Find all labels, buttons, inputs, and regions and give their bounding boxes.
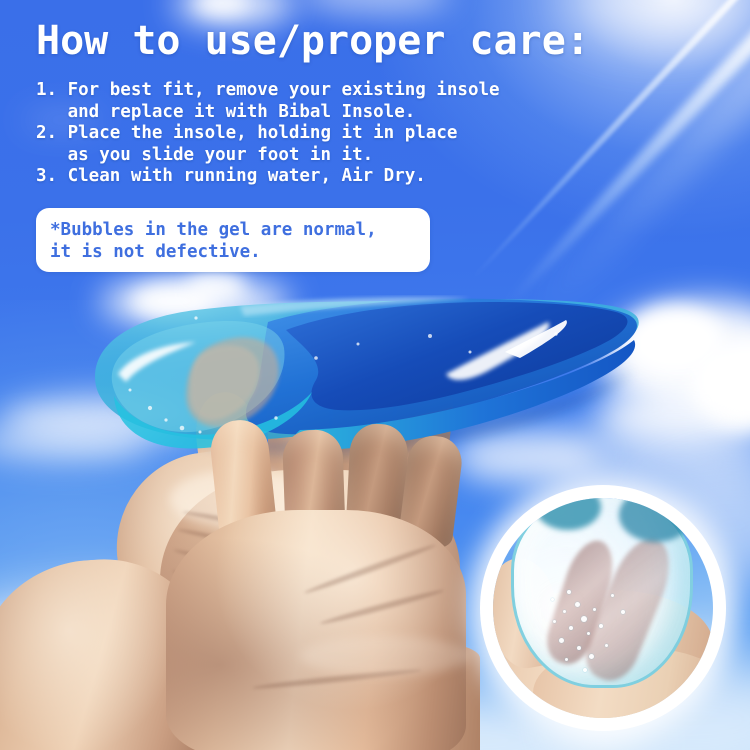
cloud (186, 272, 246, 302)
product-instruction-image: How to use/proper care: 1. For best fit,… (0, 0, 750, 750)
cloud (452, 430, 602, 484)
hand-palm-front (166, 510, 466, 750)
inset-circle-photo (493, 498, 713, 718)
page-title: How to use/proper care: (36, 18, 590, 64)
instruction-list: 1. For best fit, remove your existing in… (36, 80, 500, 188)
hand-highlight (300, 636, 470, 676)
note-callout-text: *Bubbles in the gel are normal, it is no… (50, 219, 377, 263)
